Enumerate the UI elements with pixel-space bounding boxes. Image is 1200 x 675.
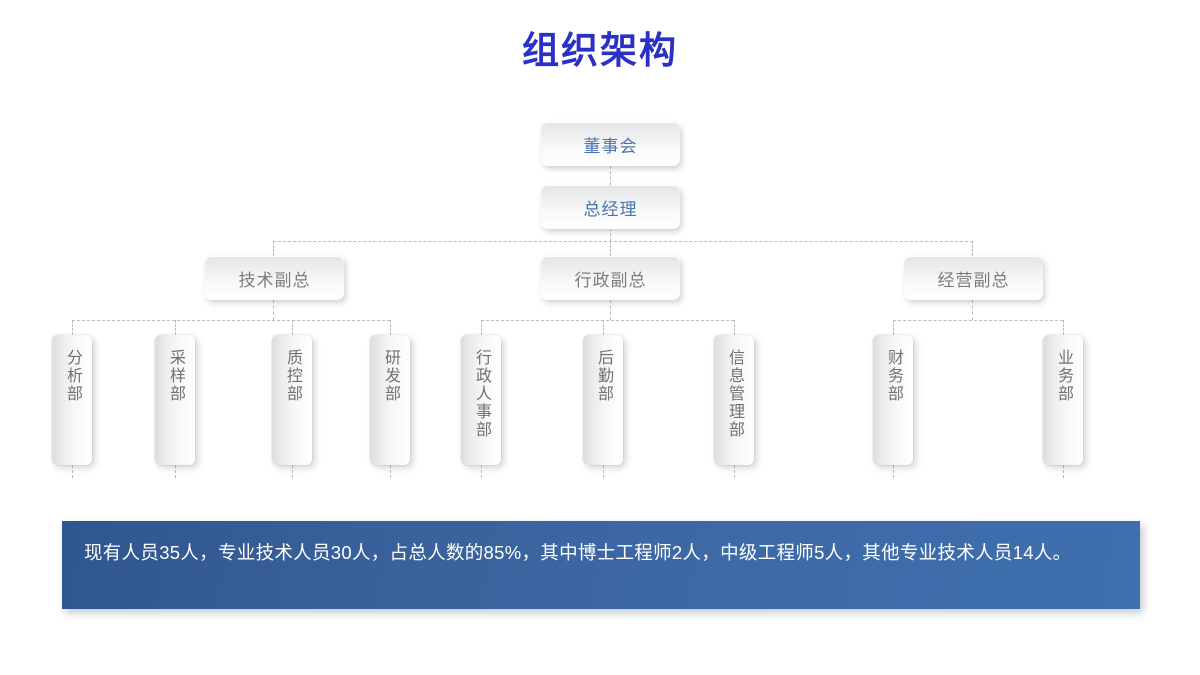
- summary-banner: 现有人员35人，专业技术人员30人，占总人数的85%，其中博士工程师2人，中级工…: [62, 521, 1140, 609]
- org-node-general-manager[interactable]: 总经理: [541, 185, 680, 229]
- connector-bus-to-dept-analysis: [72, 320, 73, 335]
- connector-vp-ops-down: [972, 300, 973, 320]
- org-node-vp-technical[interactable]: 技术副总: [205, 256, 344, 300]
- connector-bus-to-dept-info: [734, 320, 735, 335]
- connector-bus-to-dept-qc: [292, 320, 293, 335]
- org-node-label: 分析部: [62, 349, 82, 403]
- connector-tail-dept-finance: [893, 465, 894, 478]
- org-node-label: 质控部: [282, 349, 302, 403]
- org-node-dept-finance[interactable]: 财务部: [873, 335, 913, 465]
- connector-tail-dept-hr: [481, 465, 482, 478]
- org-node-label: 采样部: [165, 349, 185, 403]
- org-node-dept-quality-control[interactable]: 质控部: [272, 335, 312, 465]
- connector-bus-to-vp-admin: [610, 241, 611, 256]
- connector-vp-tech-down: [273, 300, 274, 320]
- connector-bus-to-dept-rd: [390, 320, 391, 335]
- connector-vp-admin-down: [610, 300, 611, 320]
- org-node-label: 业务部: [1053, 349, 1073, 403]
- org-node-dept-sampling[interactable]: 采样部: [155, 335, 195, 465]
- connector-board-to-gm: [610, 166, 611, 185]
- org-node-label: 信息管理部: [724, 349, 744, 439]
- connector-tail-dept-rd: [390, 465, 391, 478]
- org-node-label: 研发部: [380, 349, 400, 403]
- org-node-dept-business[interactable]: 业务部: [1043, 335, 1083, 465]
- org-node-board[interactable]: 董事会: [541, 122, 680, 166]
- org-node-vp-administrative[interactable]: 行政副总: [541, 256, 680, 300]
- connector-bus-to-dept-sampling: [175, 320, 176, 335]
- connector-tail-dept-sampling: [175, 465, 176, 478]
- summary-text: 现有人员35人，专业技术人员30人，占总人数的85%，其中博士工程师2人，中级工…: [84, 542, 1071, 563]
- connector-bus-to-vp-ops: [972, 241, 973, 256]
- org-node-label: 财务部: [883, 349, 903, 403]
- org-node-dept-admin-hr[interactable]: 行政人事部: [461, 335, 501, 465]
- connector-bus-to-dept-hr: [481, 320, 482, 335]
- slide-canvas: 组织架构 董事会 总经理 技术副总 行政副总 经营副总 分析部 采样部: [0, 0, 1200, 675]
- connector-bus-to-vp-tech: [273, 241, 274, 256]
- connector-vp-bus: [273, 241, 973, 242]
- connector-vp-ops-bus: [893, 320, 1063, 321]
- org-node-dept-information-management[interactable]: 信息管理部: [714, 335, 754, 465]
- connector-tail-dept-info: [734, 465, 735, 478]
- connector-bus-to-dept-finance: [893, 320, 894, 335]
- org-node-vp-operations[interactable]: 经营副总: [904, 256, 1043, 300]
- org-node-dept-analysis[interactable]: 分析部: [52, 335, 92, 465]
- org-node-dept-logistics[interactable]: 后勤部: [583, 335, 623, 465]
- connector-gm-down: [610, 228, 611, 241]
- connector-tail-dept-logistics: [603, 465, 604, 478]
- page-title: 组织架构: [0, 28, 1200, 74]
- connector-bus-to-dept-logistics: [603, 320, 604, 335]
- org-node-label: 行政人事部: [471, 349, 491, 439]
- connector-tail-dept-business: [1063, 465, 1064, 478]
- connector-bus-to-dept-business: [1063, 320, 1064, 335]
- connector-vp-tech-bus: [72, 320, 390, 321]
- connector-vp-admin-bus: [481, 320, 734, 321]
- connector-tail-dept-analysis: [72, 465, 73, 478]
- org-node-dept-research-development[interactable]: 研发部: [370, 335, 410, 465]
- org-node-label: 后勤部: [593, 349, 613, 403]
- connector-tail-dept-qc: [292, 465, 293, 478]
